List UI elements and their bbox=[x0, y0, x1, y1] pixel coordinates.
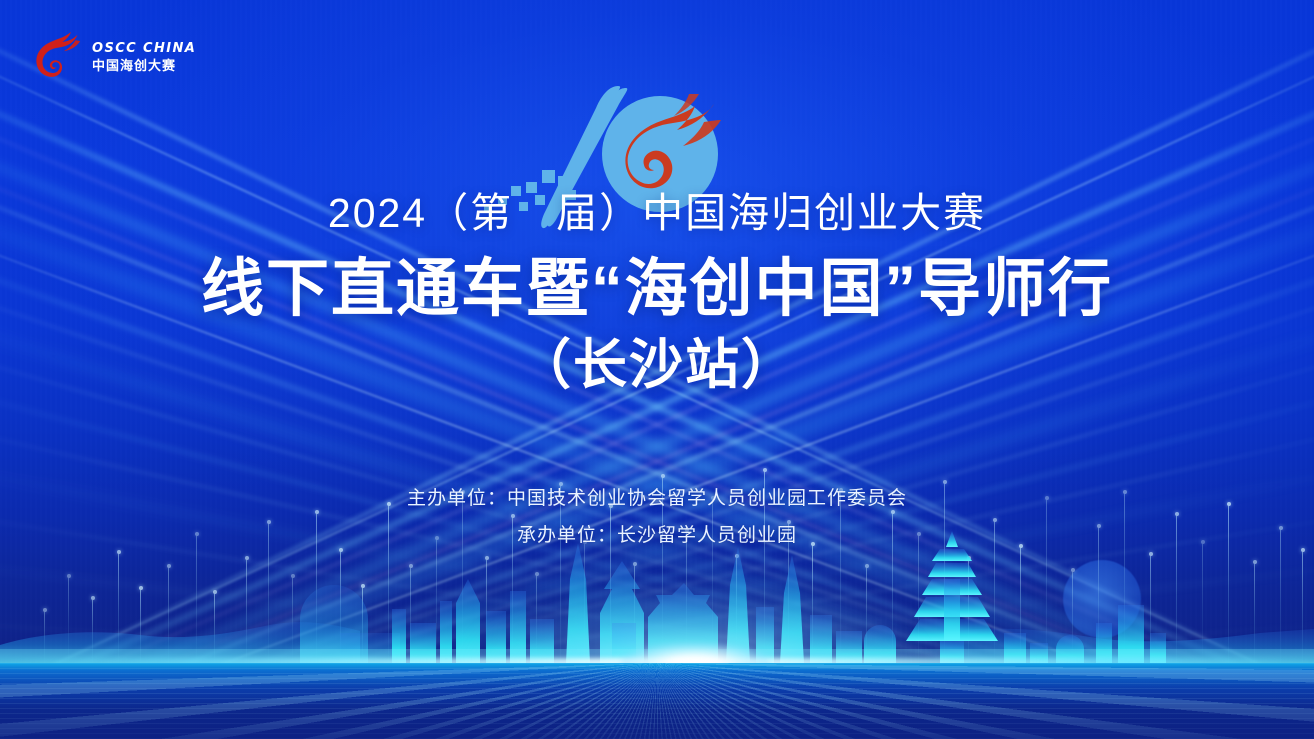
brand-text: OSCC CHINA 中国海创大赛 bbox=[92, 42, 196, 72]
perspective-ground bbox=[0, 663, 1314, 739]
brand-logo: OSCC CHINA 中国海创大赛 bbox=[30, 25, 160, 87]
headline-block: 2024（第 届）中国海归创业大赛 线下直通车暨“海创中国”导师行 （长沙站） bbox=[0, 190, 1314, 398]
host-organizer-line: 主办单位：中国技术创业协会留学人员创业园工作委员会 bbox=[0, 480, 1314, 517]
year-edition-line: 2024（第 届）中国海归创业大赛 bbox=[0, 190, 1314, 237]
brand-chinese-name: 中国海创大赛 bbox=[92, 59, 196, 72]
co-organizer-line: 承办单位：长沙留学人员创业园 bbox=[0, 517, 1314, 554]
organizer-block: 主办单位：中国技术创业协会留学人员创业园工作委员会 承办单位：长沙留学人员创业园 bbox=[0, 480, 1314, 554]
moon-circle bbox=[1063, 560, 1141, 638]
poster-canvas: OSCC CHINA 中国海创大赛 bbox=[0, 0, 1314, 739]
ground-fade bbox=[0, 663, 1314, 739]
city-station-line: （长沙站） bbox=[0, 334, 1314, 398]
brand-english-name: OSCC CHINA bbox=[92, 42, 196, 55]
main-title-line: 线下直通车暨“海创中国”导师行 bbox=[0, 253, 1314, 326]
flame-icon bbox=[30, 27, 88, 85]
